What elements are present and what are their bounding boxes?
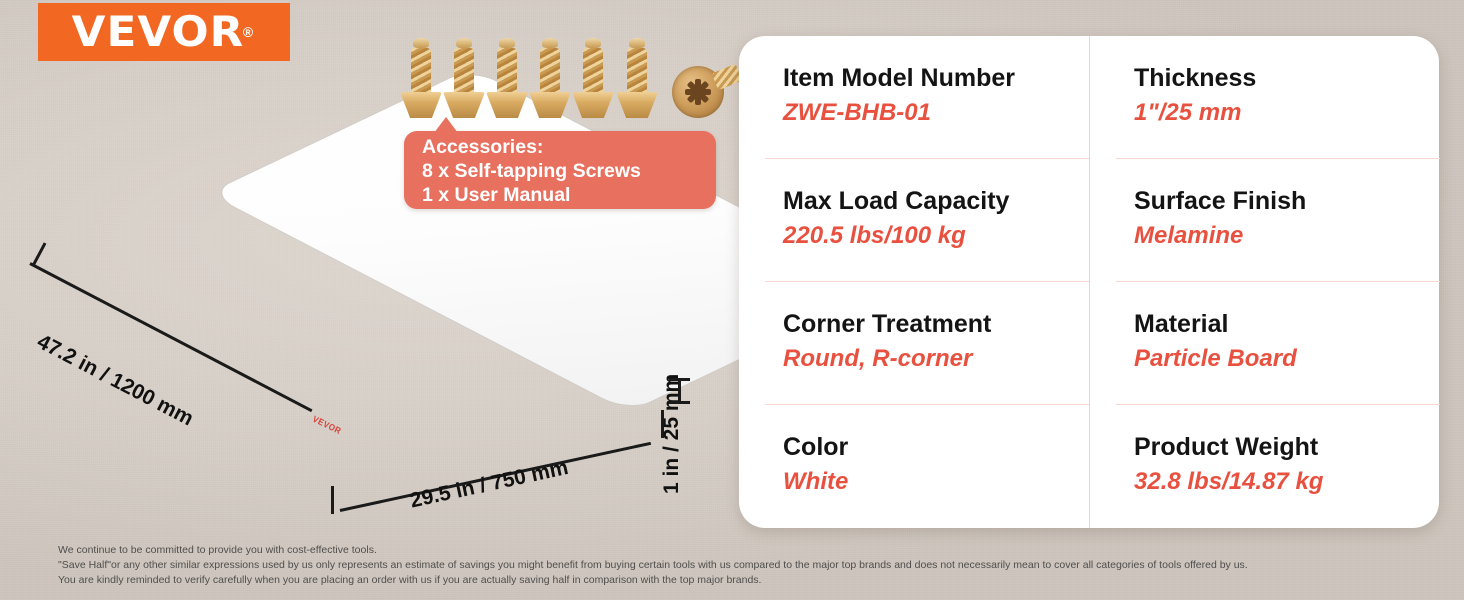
spec-key: Product Weight bbox=[1134, 433, 1439, 461]
spec-key: Item Model Number bbox=[783, 64, 1089, 92]
registered-trademark-icon: ® bbox=[243, 24, 253, 40]
spec-value: Round, R-corner bbox=[783, 346, 1089, 373]
spec-key: Max Load Capacity bbox=[783, 187, 1089, 215]
specification-table: Item Model Number ZWE-BHB-01 Thickness 1… bbox=[739, 36, 1439, 528]
spec-key: Thickness bbox=[1134, 64, 1439, 92]
screw-icon bbox=[486, 40, 528, 118]
spec-cell: Color White bbox=[739, 405, 1089, 528]
spec-cell: Max Load Capacity 220.5 lbs/100 kg bbox=[739, 159, 1089, 282]
dimension-tick-corner bbox=[331, 486, 334, 514]
legal-disclaimer: We continue to be committed to provide y… bbox=[58, 543, 1418, 588]
screw-icon bbox=[443, 40, 485, 118]
spec-value: 32.8 lbs/14.87 kg bbox=[1134, 469, 1439, 496]
spec-value: White bbox=[783, 469, 1089, 496]
spec-cell: Item Model Number ZWE-BHB-01 bbox=[739, 36, 1089, 159]
spec-value: Melamine bbox=[1134, 223, 1439, 250]
thickness-dimension-marker bbox=[668, 378, 692, 404]
callout-pointer-icon bbox=[434, 117, 458, 133]
spec-value: ZWE-BHB-01 bbox=[783, 100, 1089, 127]
disclaimer-line: We continue to be committed to provide y… bbox=[58, 543, 1418, 558]
screw-icon bbox=[529, 40, 571, 118]
spec-key: Material bbox=[1134, 310, 1439, 338]
disclaimer-line: "Save Half"or any other similar expressi… bbox=[58, 558, 1418, 573]
spec-cell: Product Weight 32.8 lbs/14.87 kg bbox=[1089, 405, 1439, 528]
disclaimer-line: You are kindly reminded to verify carefu… bbox=[58, 573, 1418, 588]
spec-cell: Corner Treatment Round, R-corner bbox=[739, 282, 1089, 405]
spec-value: 220.5 lbs/100 kg bbox=[783, 223, 1089, 250]
spec-cell: Surface Finish Melamine bbox=[1089, 159, 1439, 282]
vevor-logo: VEVOR® bbox=[38, 3, 290, 61]
screw-icon bbox=[400, 40, 442, 118]
spec-key: Corner Treatment bbox=[783, 310, 1089, 338]
screw-group bbox=[400, 18, 730, 133]
spec-key: Surface Finish bbox=[1134, 187, 1439, 215]
accessories-callout: Accessories: 8 x Self-tapping Screws 1 x… bbox=[404, 131, 716, 209]
infographic-canvas: VEVOR® VEVOR 47.2 in / 1200 mm 29.5 in /… bbox=[0, 0, 1464, 600]
spec-key: Color bbox=[783, 433, 1089, 461]
screw-icon-head-on bbox=[672, 66, 724, 118]
spec-value: Particle Board bbox=[1134, 346, 1439, 373]
spec-cell: Thickness 1"/25 mm bbox=[1089, 36, 1439, 159]
accessories-item: 1 x User Manual bbox=[404, 183, 716, 207]
logo-wordmark: VEVOR bbox=[72, 11, 245, 53]
accessories-title: Accessories: bbox=[404, 131, 716, 159]
accessories-item: 8 x Self-tapping Screws bbox=[404, 159, 716, 183]
spec-cell: Material Particle Board bbox=[1089, 282, 1439, 405]
spec-value: 1"/25 mm bbox=[1134, 100, 1439, 127]
